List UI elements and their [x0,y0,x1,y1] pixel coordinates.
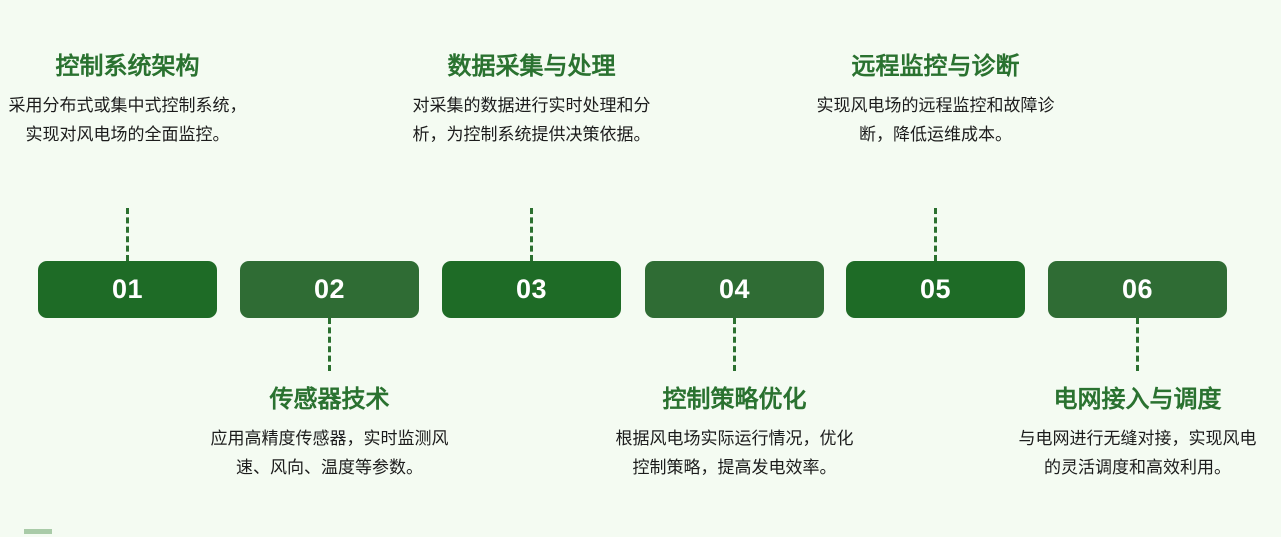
step-number-04: 04 [719,276,750,303]
text-block-05: 远程监控与诊断 实现风电场的远程监控和故障诊断，降低运维成本。 [814,52,1057,149]
connector-line-02 [328,318,334,371]
step-number-02: 02 [314,276,345,303]
item-description-01: 采用分布式或集中式控制系统，实现对风电场的全面监控。 [6,91,249,149]
item-title-02: 传感器技术 [208,385,451,415]
text-block-06: 电网接入与调度 与电网进行无缝对接，实现风电的灵活调度和高效利用。 [1016,385,1259,482]
connector-line-06 [1136,318,1142,371]
step-chip-01[interactable]: 01 [38,261,217,318]
step-number-03: 03 [516,276,547,303]
item-description-04: 根据风电场实际运行情况，优化控制策略，提高发电效率。 [613,424,856,482]
item-title-06: 电网接入与调度 [1016,385,1259,415]
text-block-03: 数据采集与处理 对采集的数据进行实时处理和分析，为控制系统提供决策依据。 [410,52,653,149]
item-description-03: 对采集的数据进行实时处理和分析，为控制系统提供决策依据。 [410,91,653,149]
step-number-01: 01 [112,276,143,303]
bottom-left-marker [24,529,52,534]
item-title-05: 远程监控与诊断 [814,52,1057,82]
text-block-01: 控制系统架构 采用分布式或集中式控制系统，实现对风电场的全面监控。 [6,52,249,149]
item-description-06: 与电网进行无缝对接，实现风电的灵活调度和高效利用。 [1016,424,1259,482]
item-description-05: 实现风电场的远程监控和故障诊断，降低运维成本。 [814,91,1057,149]
item-title-01: 控制系统架构 [6,52,249,82]
text-block-02: 传感器技术 应用高精度传感器，实时监测风速、风向、温度等参数。 [208,385,451,482]
text-block-04: 控制策略优化 根据风电场实际运行情况，优化控制策略，提高发电效率。 [613,385,856,482]
item-title-03: 数据采集与处理 [410,52,653,82]
step-number-05: 05 [920,276,951,303]
step-chip-04[interactable]: 04 [645,261,824,318]
timeline-diagram: 控制系统架构 采用分布式或集中式控制系统，实现对风电场的全面监控。 01 02 … [0,0,1281,537]
connector-line-03 [530,208,536,261]
step-chip-06[interactable]: 06 [1048,261,1227,318]
connector-line-05 [934,208,940,261]
item-title-04: 控制策略优化 [613,385,856,415]
connector-line-04 [733,318,739,371]
step-chip-03[interactable]: 03 [442,261,621,318]
item-description-02: 应用高精度传感器，实时监测风速、风向、温度等参数。 [208,424,451,482]
step-number-06: 06 [1122,276,1153,303]
step-chip-02[interactable]: 02 [240,261,419,318]
connector-line-01 [126,208,132,261]
step-chip-05[interactable]: 05 [846,261,1025,318]
